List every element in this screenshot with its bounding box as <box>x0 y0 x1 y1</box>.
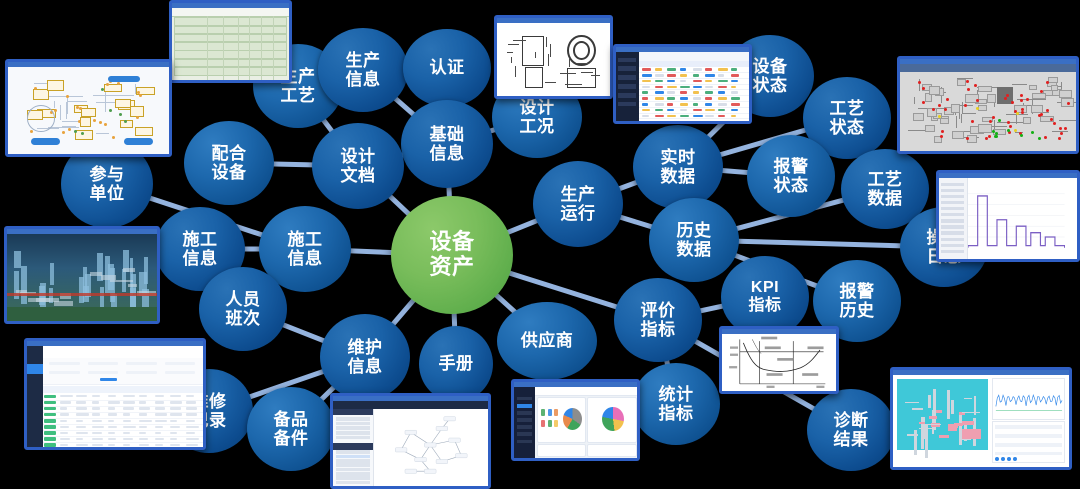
edge-n_peihe_shebei-n_sheji_wendang <box>268 164 317 165</box>
node-label: 报警历史 <box>838 282 877 320</box>
node-label: KPI指标 <box>746 279 783 315</box>
node-label: 诊断结果 <box>832 411 871 449</box>
node-label: 历史数据 <box>675 221 714 259</box>
node-zhenduan_jieguo[interactable]: 诊断结果 <box>807 389 895 471</box>
node-label: 设备资产 <box>427 230 476 279</box>
node-renyuan_banci[interactable]: 人员班次 <box>199 267 287 351</box>
edge-n_shigong_xinxi_2-center <box>345 251 396 253</box>
node-label: 生产运行 <box>559 185 598 223</box>
thumbnail-content <box>8 67 169 154</box>
node-label: 供应商 <box>519 331 576 350</box>
node-weihu_xinxi[interactable]: 维护信息 <box>320 314 410 400</box>
thumbnail-histogram-chart[interactable] <box>936 170 1080 262</box>
node-label: 评价指标 <box>639 301 678 339</box>
thumbnail-pie-chart-dashboard[interactable] <box>511 379 640 461</box>
node-gongyingshang[interactable]: 供应商 <box>497 302 597 380</box>
node-label: 人员班次 <box>224 290 263 328</box>
edge-n_weihu_xinxi-center <box>391 297 416 326</box>
node-label: 施工信息 <box>181 230 220 268</box>
mindmap-canvas: 设备资产生产工艺生产信息认证设计工况基础信息设计文档配合设备参与单位施工信息施工… <box>0 0 1080 483</box>
node-label: 维护信息 <box>346 338 385 376</box>
node-tongji_zhibiao[interactable]: 统计指标 <box>632 363 720 445</box>
node-shouce[interactable]: 手册 <box>419 326 493 402</box>
node-lishi_shuju[interactable]: 历史数据 <box>649 198 739 282</box>
thumbnail-production-spreadsheet[interactable] <box>169 0 292 83</box>
node-label: 配合设备 <box>210 144 249 182</box>
node-label: 报警状态 <box>772 157 811 195</box>
thumbnail-content <box>27 346 203 447</box>
node-shengchan_xinxi[interactable]: 生产信息 <box>318 28 408 112</box>
node-label: 设备状态 <box>751 57 790 95</box>
center-node-equipment-assets[interactable]: 设备资产 <box>391 196 513 314</box>
node-label: 工艺数据 <box>866 170 905 208</box>
edge-n_pingjia_zhibiao-center <box>505 272 620 308</box>
thumbnail-pid-flow-diagram[interactable] <box>5 59 172 157</box>
node-label: 认证 <box>428 58 467 77</box>
thumbnail-3d-plant-model[interactable] <box>4 226 160 324</box>
node-pingjia_zhibiao[interactable]: 评价指标 <box>614 278 702 362</box>
thumbnail-content <box>616 52 749 121</box>
node-sheji_wendang[interactable]: 设计文档 <box>312 123 404 209</box>
thumbnail-diagnostic-trend-screen[interactable] <box>890 367 1072 470</box>
thumbnail-bathtub-curve-chart[interactable] <box>719 326 839 394</box>
edge-n_lishi_shuju-n_caozuo_rizhi <box>733 241 906 246</box>
node-label: 手册 <box>437 354 476 373</box>
thumbnail-content <box>939 178 1077 259</box>
node-label: 设计文档 <box>339 147 378 185</box>
thumbnail-content <box>893 375 1069 467</box>
node-label: 参与单位 <box>88 165 127 203</box>
thumbnail-content <box>7 234 157 321</box>
node-label: 施工信息 <box>286 230 325 268</box>
node-beipin_beijian[interactable]: 备品备件 <box>247 387 335 471</box>
thumbnail-content <box>172 8 289 80</box>
node-peihe_shebei[interactable]: 配合设备 <box>184 121 274 205</box>
thumbnail-scada-process-screen[interactable] <box>897 56 1079 154</box>
thumbnail-content <box>514 387 637 458</box>
thumbnail-cad-drawing[interactable] <box>494 15 613 99</box>
thumbnail-device-status-table[interactable] <box>613 44 752 124</box>
node-label: 实时数据 <box>659 148 698 186</box>
node-label: 生产信息 <box>344 51 383 89</box>
node-label: 统计指标 <box>657 385 696 423</box>
thumbnail-content <box>900 64 1076 151</box>
thumbnail-content <box>497 23 610 96</box>
edge-n_shengchan_yunxing-center <box>503 219 540 234</box>
node-label: 工艺状态 <box>828 99 867 137</box>
node-renzheng[interactable]: 认证 <box>403 29 491 107</box>
node-jichu_xinxi[interactable]: 基础信息 <box>401 100 493 188</box>
node-baojing_zhuangtai[interactable]: 报警状态 <box>747 135 835 217</box>
node-shengchan_yunxing[interactable]: 生产运行 <box>533 161 623 247</box>
node-label: 设计工况 <box>518 98 557 136</box>
node-label: 备品备件 <box>272 410 311 448</box>
node-label: 基础信息 <box>428 125 467 163</box>
thumbnail-content <box>333 401 488 486</box>
node-shishi_shuju[interactable]: 实时数据 <box>633 125 723 209</box>
thumbnail-maintenance-record-table[interactable] <box>24 338 206 450</box>
thumbnail-asset-tree-diagram[interactable] <box>330 393 491 489</box>
thumbnail-content <box>722 334 836 391</box>
edge-n_renyuan_banci-n_weihu_xinxi <box>280 323 328 342</box>
